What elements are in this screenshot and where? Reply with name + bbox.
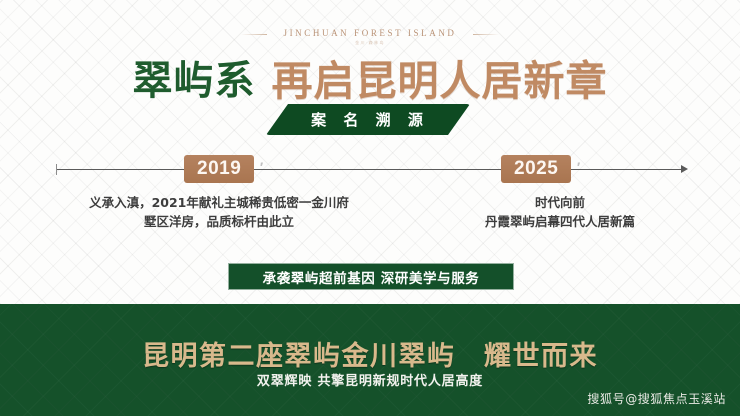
timeline-arrow-icon (681, 165, 688, 173)
highlight-strip-label: 承袭翠屿超前基因 深研美学与服务 (263, 267, 480, 287)
timeline-year-label: 2025 (514, 158, 558, 180)
top-section: JINCHUAN FOREST ISLAND 金川·森林岛 翠屿系再启昆明人居新… (0, 0, 740, 304)
footer-section: 昆明第二座翠屿金川翠屿 耀世而来 双翠辉映 共擎昆明新规时代人居高度 搜狐号@搜… (0, 304, 740, 416)
timeline-year-badge-2025: 2025 ′ (501, 155, 571, 183)
brand-latin-wrapper: JINCHUAN FOREST ISLAND 金川·森林岛 (249, 28, 490, 46)
timeline-entry-line1: 义承入滇，2021年献礼主城稀贵低密一金川府 (63, 193, 375, 212)
brand-latin-name: JINCHUAN FOREST ISLAND (283, 28, 456, 38)
section-badge: 案 名 溯 源 (266, 104, 470, 135)
timeline-axis-line (57, 169, 683, 170)
timeline-entry-line2: 丹霞翠屿启幕四代人居新篇 (440, 212, 680, 231)
timeline-tick-icon: ′ (260, 159, 263, 175)
highlight-strip: 承袭翠屿超前基因 深研美学与服务 (228, 263, 514, 290)
timeline-tick-icon: ′ (577, 159, 580, 175)
page-title-copper-part: 再启昆明人居新章 (272, 57, 608, 105)
timeline-entry-2025: 时代向前 丹霞翠屿启幕四代人居新篇 (440, 193, 680, 231)
footer-headline: 昆明第二座翠屿金川翠屿 耀世而来 (0, 334, 740, 373)
section-badge-label: 案 名 溯 源 (307, 109, 429, 130)
watermark-label: 搜狐号@搜狐焦点玉溪站 (587, 390, 726, 407)
timeline-entry-line2: 墅区洋房，品质标杆由此立 (63, 212, 375, 231)
timeline-year-label: 2019 (197, 158, 241, 180)
timeline-entry-line1: 时代向前 (440, 193, 680, 212)
brand-latin-subtitle: 金川·森林岛 (283, 40, 456, 46)
timeline-entry-2019: 义承入滇，2021年献礼主城稀贵低密一金川府 墅区洋房，品质标杆由此立 (63, 193, 375, 231)
page-title-green-part: 翠屿系 (133, 58, 256, 104)
timeline-year-badge-2019: 2019 ′ (184, 155, 254, 183)
footer-subline: 双翠辉映 共擎昆明新规时代人居高度 (0, 370, 740, 389)
brand-latin-line: JINCHUAN FOREST ISLAND 金川·森林岛 (0, 28, 740, 49)
page-title: 翠屿系再启昆明人居新章 (0, 47, 740, 107)
